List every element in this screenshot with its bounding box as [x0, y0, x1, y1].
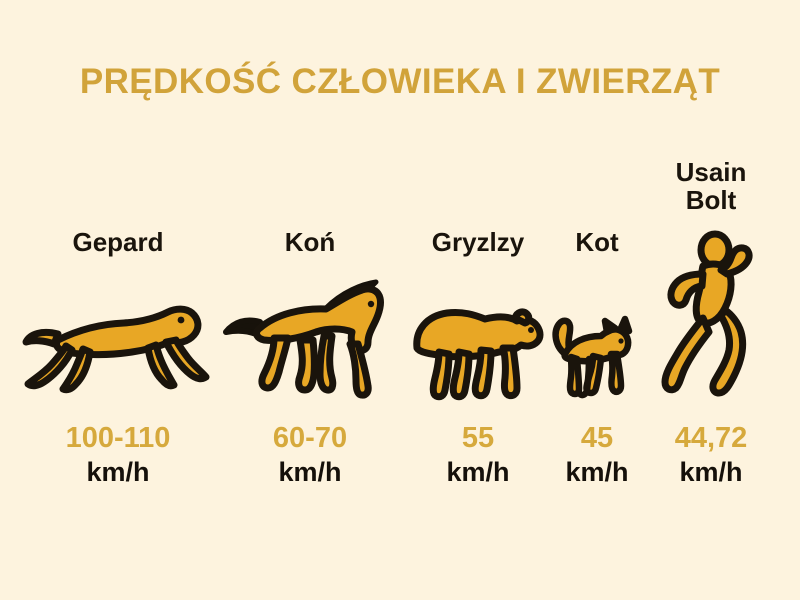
bear-icon: [400, 0, 556, 400]
entry-column-kon: Koń: [212, 0, 408, 600]
value-number: 60-70: [212, 424, 408, 453]
entry-value-usain-bolt: 44,72 km/h: [648, 424, 774, 488]
value-number: 45: [534, 424, 660, 453]
value-unit: km/h: [400, 457, 556, 488]
value-number: 55: [400, 424, 556, 453]
cheetah-icon: [18, 0, 218, 400]
entry-column-kot: Kot: [534, 0, 660, 600]
running-man-icon: [648, 0, 774, 400]
horse-icon: [212, 0, 408, 400]
entry-column-gryzlzy: Gryzlzy: [400, 0, 556, 600]
value-unit: km/h: [212, 457, 408, 488]
entry-column-usain-bolt: Usain Bolt: [648, 0, 774, 600]
entry-value-kon: 60-70 km/h: [212, 424, 408, 488]
infographic-canvas: PRĘDKOŚĆ CZŁOWIEKA I ZWIERZĄT Gepard: [0, 0, 800, 600]
value-number: 100-110: [18, 424, 218, 453]
entry-value-gepard: 100-110 km/h: [18, 424, 218, 488]
entry-value-gryzlzy: 55 km/h: [400, 424, 556, 488]
value-unit: km/h: [534, 457, 660, 488]
entry-value-kot: 45 km/h: [534, 424, 660, 488]
value-unit: km/h: [648, 457, 774, 488]
value-unit: km/h: [18, 457, 218, 488]
value-number: 44,72: [648, 424, 774, 453]
cat-icon: [534, 0, 660, 400]
entry-column-gepard: Gepard: [18, 0, 218, 600]
